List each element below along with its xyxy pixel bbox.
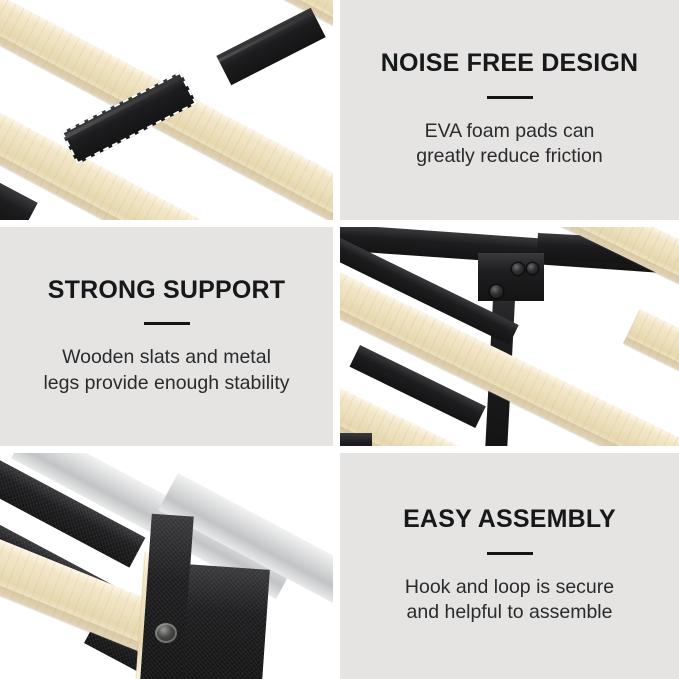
body-line-1: Wooden slats and metal bbox=[43, 345, 289, 371]
eva-foam-pad-upper bbox=[216, 8, 325, 86]
heading-noise-free-design: NOISE FREE DESIGN bbox=[381, 50, 639, 78]
infographic-board: NOISE FREE DESIGN EVA foam pads can grea… bbox=[0, 0, 679, 679]
wood-slat-far-right bbox=[623, 309, 679, 405]
body-line-2: legs provide enough stability bbox=[43, 371, 289, 397]
bolt-upper bbox=[512, 263, 524, 275]
divider-rule-noise-free-design bbox=[487, 96, 533, 99]
grommet-hole bbox=[155, 623, 177, 643]
photo-hook-and-loop bbox=[0, 453, 333, 679]
body-line-2: and helpful to assemble bbox=[405, 600, 614, 626]
body-line-1: EVA foam pads can bbox=[416, 119, 602, 145]
body-noise-free-design: EVA foam pads can greatly reduce frictio… bbox=[416, 119, 602, 170]
photo-eva-foam-pads bbox=[0, 0, 333, 220]
panel-strong-support: STRONG SUPPORT Wooden slats and metal le… bbox=[0, 227, 333, 446]
body-easy-assembly: Hook and loop is secure and helpful to a… bbox=[405, 575, 614, 626]
body-strong-support: Wooden slats and metal legs provide enou… bbox=[43, 345, 289, 396]
divider-rule-easy-assembly bbox=[487, 552, 533, 555]
bolt-left bbox=[490, 285, 503, 298]
body-line-1: Hook and loop is secure bbox=[405, 575, 614, 601]
bolt-right bbox=[527, 263, 538, 274]
heading-easy-assembly: EASY ASSEMBLY bbox=[403, 506, 616, 534]
frame-corner-shadow bbox=[340, 433, 372, 446]
heading-strong-support: STRONG SUPPORT bbox=[48, 277, 286, 305]
panel-noise-free-design: NOISE FREE DESIGN EVA foam pads can grea… bbox=[340, 0, 679, 220]
junction-plate bbox=[478, 253, 544, 301]
panel-easy-assembly: EASY ASSEMBLY Hook and loop is secure an… bbox=[340, 453, 679, 679]
frame-corner-shadow bbox=[0, 181, 38, 220]
body-line-2: greatly reduce friction bbox=[416, 144, 602, 170]
velcro-block-right bbox=[182, 564, 270, 679]
photo-metal-frame-junction bbox=[340, 227, 679, 446]
divider-rule-strong-support bbox=[144, 322, 190, 325]
